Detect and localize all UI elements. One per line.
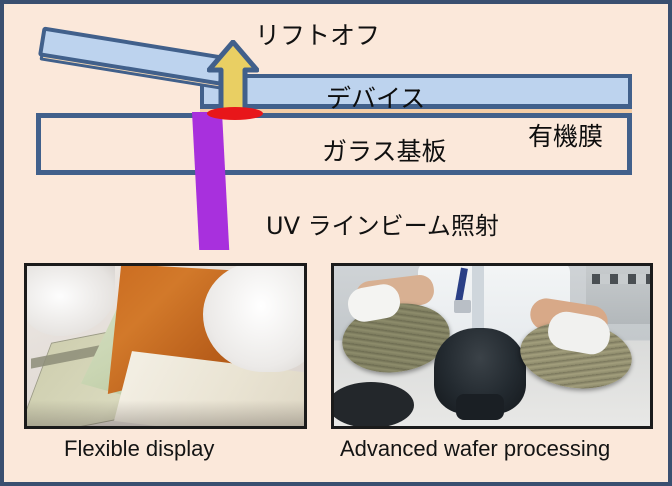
figure-root: ガラス基板 デバイス 有機膜 リフトオフ UV ラインビーム照射 <box>0 0 672 486</box>
photo2-id-badge <box>454 300 471 313</box>
photo2-foreground-object <box>331 382 414 428</box>
laser-lift-off-diagram: ガラス基板 デバイス 有機膜 リフトオフ UV ラインビーム照射 <box>4 4 668 256</box>
glass-substrate-label: ガラス基板 <box>322 132 447 168</box>
organic-film-label: 有機膜 <box>528 117 603 153</box>
liftoff-label: リフトオフ <box>255 16 380 52</box>
uv-beam-label: UV ラインビーム照射 <box>266 206 499 241</box>
photo2-carrier-base <box>456 394 504 420</box>
photo1-shadow <box>27 400 304 426</box>
photo-flexible-display <box>24 263 307 429</box>
peeled-stack <box>38 48 228 120</box>
laser-spot-icon <box>207 107 263 120</box>
up-arrow-icon <box>207 40 259 112</box>
caption-flexible-display: Flexible display <box>64 436 214 462</box>
caption-advanced-wafer-processing: Advanced wafer processing <box>340 436 610 462</box>
peeled-device-layer <box>38 26 226 85</box>
photo2-shelf-items <box>592 274 652 284</box>
device-layer-label: デバイス <box>326 79 425 115</box>
photo-advanced-wafer-processing <box>331 263 653 429</box>
